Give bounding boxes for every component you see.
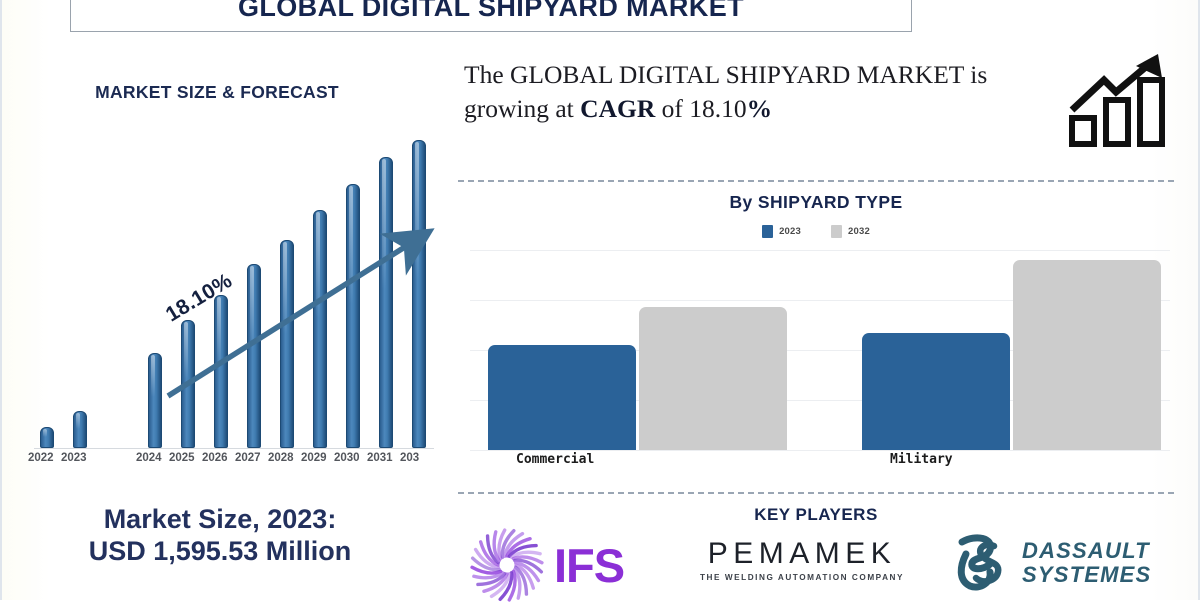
legend-label: 2032: [848, 226, 870, 237]
forecast-x-label: 2023: [61, 452, 87, 464]
market-size-heading: MARKET SIZE & FORECAST: [2, 82, 432, 103]
shipyard-type-bar: [1013, 260, 1161, 450]
forecast-x-label: 2027: [235, 452, 261, 464]
growth-statement-middle: of: [655, 94, 689, 123]
shipyard-type-x-label: Military: [890, 452, 953, 467]
legend-item[interactable]: 2032: [831, 225, 870, 238]
ifs-wordmark: IFS: [554, 542, 624, 589]
forecast-bar: [346, 184, 360, 448]
legend-swatch-icon: [831, 225, 842, 238]
forecast-bar: [412, 140, 426, 448]
forecast-x-label: 2029: [301, 452, 327, 464]
key-players-title: KEY PLAYERS: [458, 505, 1174, 525]
shipyard-type-x-label: Commercial: [516, 452, 594, 467]
forecast-bar: [181, 320, 195, 448]
market-size-line-1: Market Size, 2023:: [2, 504, 438, 536]
growth-statement: The GLOBAL DIGITAL SHIPYARD MARKET is gr…: [464, 58, 1024, 126]
pemamek-wordmark: PEMAMEK: [708, 538, 897, 570]
details-panel: The GLOBAL DIGITAL SHIPYARD MARKET is gr…: [458, 0, 1200, 600]
forecast-x-label: 203: [400, 452, 419, 464]
logo-pemamek: PEMAMEK THE WELDING AUTOMATION COMPANY: [700, 538, 904, 582]
market-size-panel: MARKET SIZE & FORECAST 18.10% 2022202320…: [2, 34, 442, 600]
legend-item[interactable]: 2023: [762, 225, 801, 238]
market-size-value: Market Size, 2023: USD 1,595.53 Million: [2, 504, 438, 568]
shipyard-type-chart: [470, 250, 1170, 450]
forecast-bar: [379, 157, 393, 448]
shipyard-type-x-axis: CommercialMilitary: [470, 452, 1170, 472]
forecast-x-label: 2031: [367, 452, 393, 464]
forecast-bar: [313, 210, 327, 448]
legend-label: 2023: [779, 226, 801, 237]
shipyard-type-bar: [488, 345, 636, 450]
legend-swatch-icon: [762, 225, 773, 238]
forecast-bar: [214, 295, 228, 448]
growth-statement-value: 18.10: [689, 94, 746, 123]
dassault-wordmark: DASSAULT SYSTEMES: [1022, 539, 1151, 587]
forecast-x-label: 2022: [28, 452, 54, 464]
grid-line: [470, 450, 1170, 451]
forecast-x-label: 2026: [202, 452, 228, 464]
pemamek-tagline: THE WELDING AUTOMATION COMPANY: [700, 573, 904, 582]
forecast-bar-chart: 18.10%: [20, 129, 440, 449]
grid-line: [470, 250, 1170, 251]
market-size-line-2: USD 1,595.53 Million: [2, 536, 438, 568]
ifs-swirl-icon: [464, 528, 550, 602]
forecast-x-label: 2025: [169, 452, 195, 464]
forecast-x-label: 2028: [268, 452, 294, 464]
infographic-page: GLOBAL DIGITAL SHIPYARD MARKET MARKET SI…: [0, 0, 1200, 600]
dassault-line-1: DASSAULT: [1022, 539, 1151, 563]
growth-statement-percent: %: [747, 94, 773, 123]
forecast-bar: [148, 353, 162, 448]
shipyard-type-title: By SHIPYARD TYPE: [458, 192, 1174, 213]
divider-top: [458, 180, 1174, 182]
growth-chart-icon: [1062, 52, 1180, 148]
logo-ifs: IFS: [464, 528, 624, 602]
forecast-x-axis: 2022202320242025202620272028202920302031…: [20, 452, 440, 474]
forecast-bar: [247, 264, 261, 448]
divider-bottom: [458, 492, 1174, 494]
dassault-line-2: SYSTEMES: [1022, 563, 1151, 587]
forecast-bar: [73, 411, 87, 448]
forecast-x-label: 2024: [136, 452, 162, 464]
shipyard-type-legend: 20232032: [458, 225, 1174, 238]
key-players-logos: IFS PEMAMEK THE WELDING AUTOMATION COMPA…: [458, 524, 1186, 600]
forecast-bar: [280, 240, 294, 448]
chart-baseline: [34, 448, 434, 449]
growth-statement-cagr: CAGR: [580, 94, 655, 123]
shipyard-type-bar: [639, 307, 787, 450]
shipyard-type-bar: [862, 333, 1010, 450]
forecast-x-label: 2030: [334, 452, 360, 464]
logo-dassault-systemes: DASSAULT SYSTEMES: [950, 532, 1151, 594]
dassault-3ds-icon: [950, 532, 1016, 594]
forecast-bar: [40, 427, 54, 448]
